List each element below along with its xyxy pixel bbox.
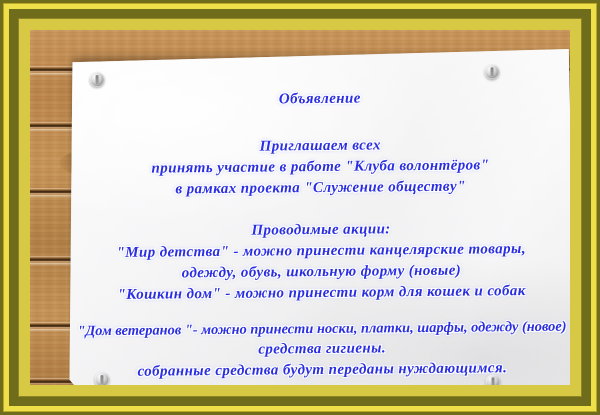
picture-frame-gold-band: Объявление Приглашаем всех принять участ…: [3, 3, 597, 412]
picture-frame-outer: Объявление Приглашаем всех принять участ…: [0, 0, 600, 415]
poster-title: Объявление: [67, 90, 570, 110]
poster-screenshot: Объявление Приглашаем всех принять участ…: [0, 0, 600, 415]
invitation-line-1: Приглашаем всех: [67, 137, 570, 157]
poster-text-body: Объявление Приглашаем всех принять участ…: [66, 48, 570, 385]
action-line-2: одежду, обувь, школьную форму (новые): [68, 263, 570, 283]
invitation-line-3: в рамках проекта "Служение обществу": [68, 179, 570, 199]
poster-title-block: Объявление: [67, 90, 570, 110]
announcement-paper: Объявление Приглашаем всех принять участ…: [66, 48, 570, 385]
frame-window: Объявление Приглашаем всех принять участ…: [30, 30, 570, 385]
invitation-line-2: принять участие в работе "Клуба волонтёр…: [67, 158, 570, 178]
action-line-3: "Кошкин дом" - можно принести корм для к…: [69, 284, 570, 304]
veterans-line-2: средства гигиены.: [69, 340, 570, 360]
veterans-line-1: "Дом ветеранов "- можно принести носки, …: [69, 320, 570, 339]
picture-frame-inner-band: Объявление Приглашаем всех принять участ…: [9, 9, 591, 406]
picture-frame-bevel: Объявление Приглашаем всех принять участ…: [18, 18, 582, 397]
invitation-block: Приглашаем всех принять участие в работе…: [67, 137, 570, 199]
actions-block: Проводимые акции: "Мир детства" - можно …: [68, 221, 570, 304]
actions-heading: Проводимые акции:: [68, 221, 570, 241]
action-line-1: "Мир детства" - можно принести канцелярс…: [68, 242, 570, 262]
veterans-block: "Дом ветеранов "- можно принести носки, …: [69, 320, 570, 381]
veterans-line-3: собранные средства будут переданы нуждаю…: [69, 361, 570, 381]
